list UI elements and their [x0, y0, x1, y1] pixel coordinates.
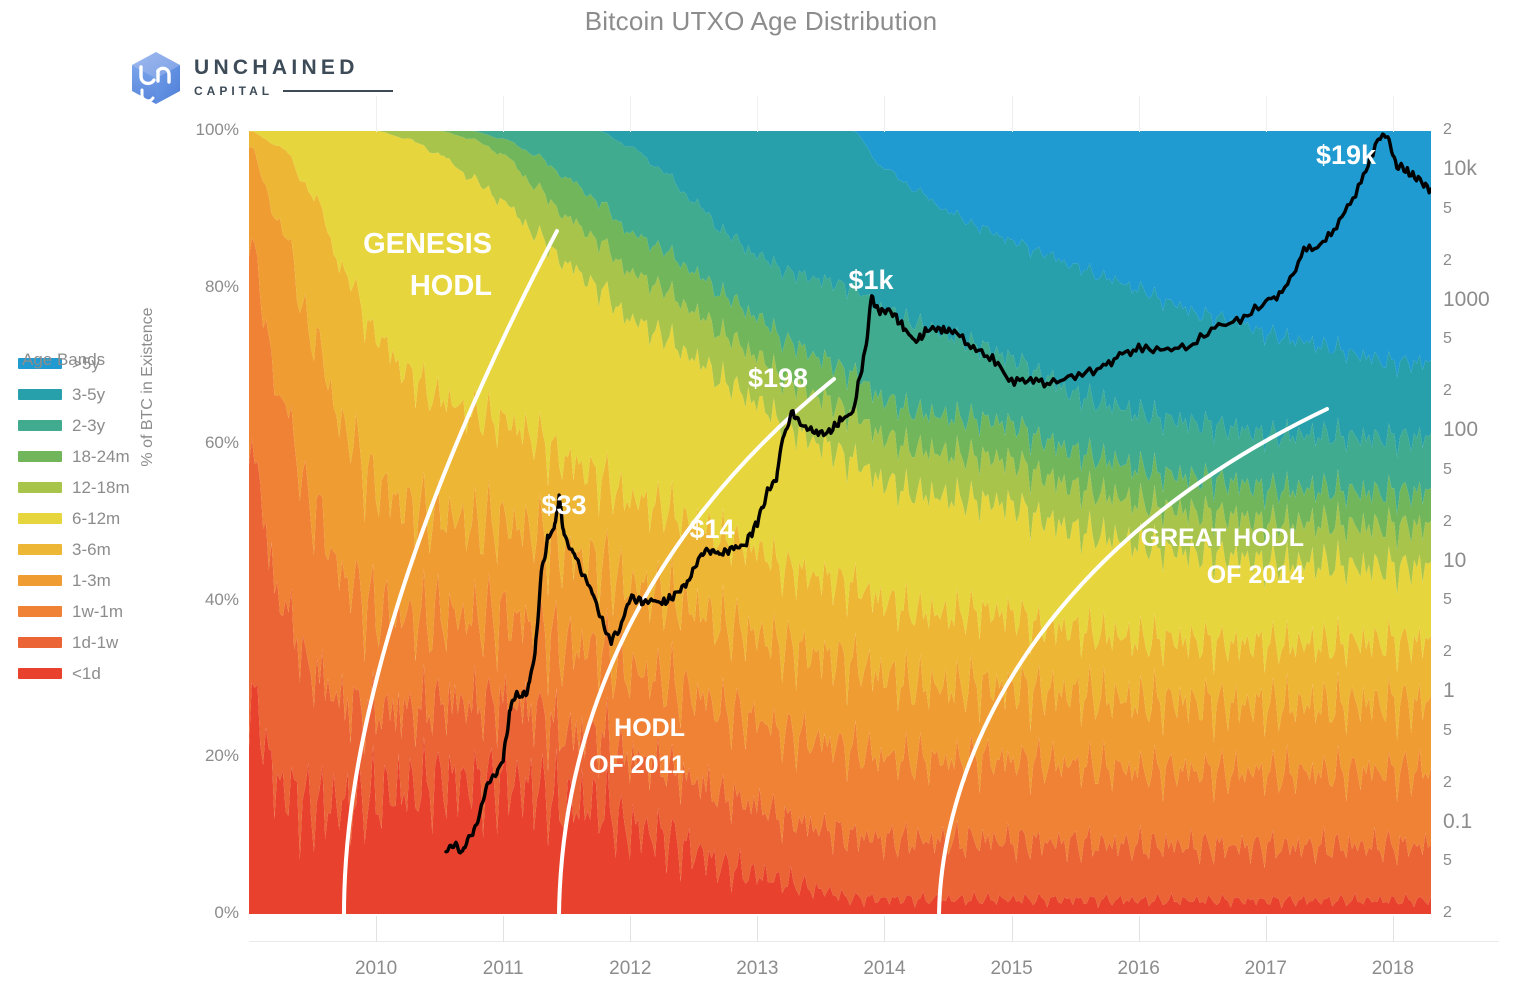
- y-tick-right: 1000: [1443, 288, 1490, 312]
- x-tick-2014: 2014: [839, 958, 929, 980]
- price-label-1k: $1k: [848, 265, 894, 295]
- y-tick-left: 100%: [175, 120, 239, 140]
- price-label-198: $198: [748, 363, 808, 393]
- legend: Age Bands >5y3-5y2-3y18-24m12-18m6-12m3-…: [18, 348, 168, 689]
- y-tick-left: 80%: [175, 277, 239, 297]
- y-tick-right: 100: [1443, 418, 1478, 442]
- x-tick-mark: [1393, 916, 1394, 942]
- y-tick-right: 2: [1443, 774, 1452, 792]
- y-tick-right: 10: [1443, 549, 1466, 573]
- legend-item-1218m[interactable]: 12-18m: [18, 472, 168, 503]
- legend-swatch-icon: [18, 637, 62, 648]
- x-tick-2012: 2012: [585, 958, 675, 980]
- x-tick-mark: [757, 916, 758, 942]
- y-tick-right: 2: [1443, 382, 1452, 400]
- legend-item-label: 1w-1m: [72, 602, 123, 622]
- hodl-label-line2: OF 2011: [589, 751, 685, 779]
- y-tick-right: 10k: [1443, 157, 1477, 181]
- x-tick-2011: 2011: [458, 958, 548, 980]
- hodl-label-line2: OF 2014: [1207, 561, 1304, 589]
- legend-item-1824m[interactable]: 18-24m: [18, 441, 168, 472]
- x-gridline: [376, 96, 377, 132]
- legend-swatch-icon: [18, 668, 62, 679]
- x-tick-2015: 2015: [967, 958, 1057, 980]
- x-axis-line: [249, 941, 1499, 942]
- x-tick-mark: [376, 916, 377, 942]
- legend-item-23y[interactable]: 2-3y: [18, 410, 168, 441]
- y-tick-left: 0%: [175, 903, 239, 923]
- hodl-label-line1: GENESIS: [363, 228, 492, 260]
- hodl-label-line1: GREAT HODL: [1141, 524, 1304, 552]
- legend-swatch-icon: [18, 389, 62, 400]
- y-tick-right: 2: [1443, 904, 1452, 922]
- y-tick-right: 5: [1443, 852, 1452, 870]
- x-gridline: [630, 96, 631, 132]
- logo-divider: [283, 90, 393, 92]
- unchained-capital-logo: UNCHAINED CAPITAL: [128, 50, 388, 108]
- y-tick-right: 1: [1443, 679, 1455, 703]
- y-tick-right: 2: [1443, 121, 1452, 139]
- legend-item-label: 12-18m: [72, 478, 130, 498]
- y-tick-right: 0.1: [1443, 810, 1472, 834]
- x-tick-2018: 2018: [1348, 958, 1438, 980]
- legend-swatch-icon: [18, 606, 62, 617]
- x-tick-2016: 2016: [1094, 958, 1184, 980]
- x-gridline: [1266, 96, 1267, 132]
- legend-item-35y[interactable]: 3-5y: [18, 379, 168, 410]
- x-tick-mark: [630, 916, 631, 942]
- legend-swatch-icon: [18, 420, 62, 431]
- y-tick-right: 5: [1443, 330, 1452, 348]
- page-title: Bitcoin UTXO Age Distribution: [0, 6, 1522, 37]
- y-tick-left: 20%: [175, 746, 239, 766]
- legend-swatch-icon: [18, 513, 62, 524]
- plot-area: $33$14$198$1k$19kGENESISHODLHODLOF 2011G…: [249, 131, 1431, 914]
- y-tick-right: 2: [1443, 513, 1452, 531]
- legend-swatch-icon: [18, 451, 62, 462]
- legend-item-1d[interactable]: <1d: [18, 658, 168, 689]
- y-tick-left: 60%: [175, 433, 239, 453]
- x-tick-mark: [1012, 916, 1013, 942]
- chart-page: Bitcoin UTXO Age Distribution: [0, 0, 1522, 1000]
- x-gridline: [757, 96, 758, 132]
- y-tick-left: 40%: [175, 590, 239, 610]
- legend-item-36m[interactable]: 3-6m: [18, 534, 168, 565]
- price-label-19k: $19k: [1316, 140, 1377, 170]
- legend-swatch-icon: [18, 482, 62, 493]
- x-tick-2017: 2017: [1221, 958, 1311, 980]
- legend-item-label: 1-3m: [72, 571, 111, 591]
- x-tick-mark: [884, 916, 885, 942]
- brand-name: UNCHAINED: [194, 57, 393, 79]
- x-gridline: [503, 96, 504, 132]
- x-gridline: [1139, 96, 1140, 132]
- legend-item-label: 6-12m: [72, 509, 120, 529]
- legend-item-label: 18-24m: [72, 447, 130, 467]
- y-tick-right: 2: [1443, 643, 1452, 661]
- x-tick-2010: 2010: [331, 958, 421, 980]
- price-label-14: $14: [689, 514, 734, 544]
- legend-item-1w1m[interactable]: 1w-1m: [18, 596, 168, 627]
- hodl-label-line2: HODL: [410, 270, 492, 302]
- legend-title: Age Bands: [22, 350, 105, 370]
- x-tick-mark: [503, 916, 504, 942]
- y-tick-right: 2: [1443, 252, 1452, 270]
- legend-item-label: 2-3y: [72, 416, 105, 436]
- price-label-33: $33: [541, 490, 586, 520]
- x-gridline: [884, 96, 885, 132]
- legend-item-612m[interactable]: 6-12m: [18, 503, 168, 534]
- legend-item-label: 3-5y: [72, 385, 105, 405]
- x-gridline: [1012, 96, 1013, 132]
- x-gridline: [1393, 96, 1394, 132]
- y-tick-right: 5: [1443, 722, 1452, 740]
- legend-swatch-icon: [18, 544, 62, 555]
- legend-item-13m[interactable]: 1-3m: [18, 565, 168, 596]
- x-tick-2013: 2013: [712, 958, 802, 980]
- legend-item-label: <1d: [72, 664, 101, 684]
- x-tick-mark: [1139, 916, 1140, 942]
- legend-item-label: 3-6m: [72, 540, 111, 560]
- cube-logo-icon: [128, 50, 184, 106]
- brand-subtitle: CAPITAL: [194, 84, 273, 98]
- hodl-label-line1: HODL: [614, 714, 685, 742]
- legend-item-label: 1d-1w: [72, 633, 118, 653]
- y-tick-right: 5: [1443, 461, 1452, 479]
- x-tick-mark: [1266, 916, 1267, 942]
- legend-swatch-icon: [18, 575, 62, 586]
- y-tick-right: 5: [1443, 200, 1452, 218]
- y-tick-right: 5: [1443, 591, 1452, 609]
- legend-item-1d1w[interactable]: 1d-1w: [18, 627, 168, 658]
